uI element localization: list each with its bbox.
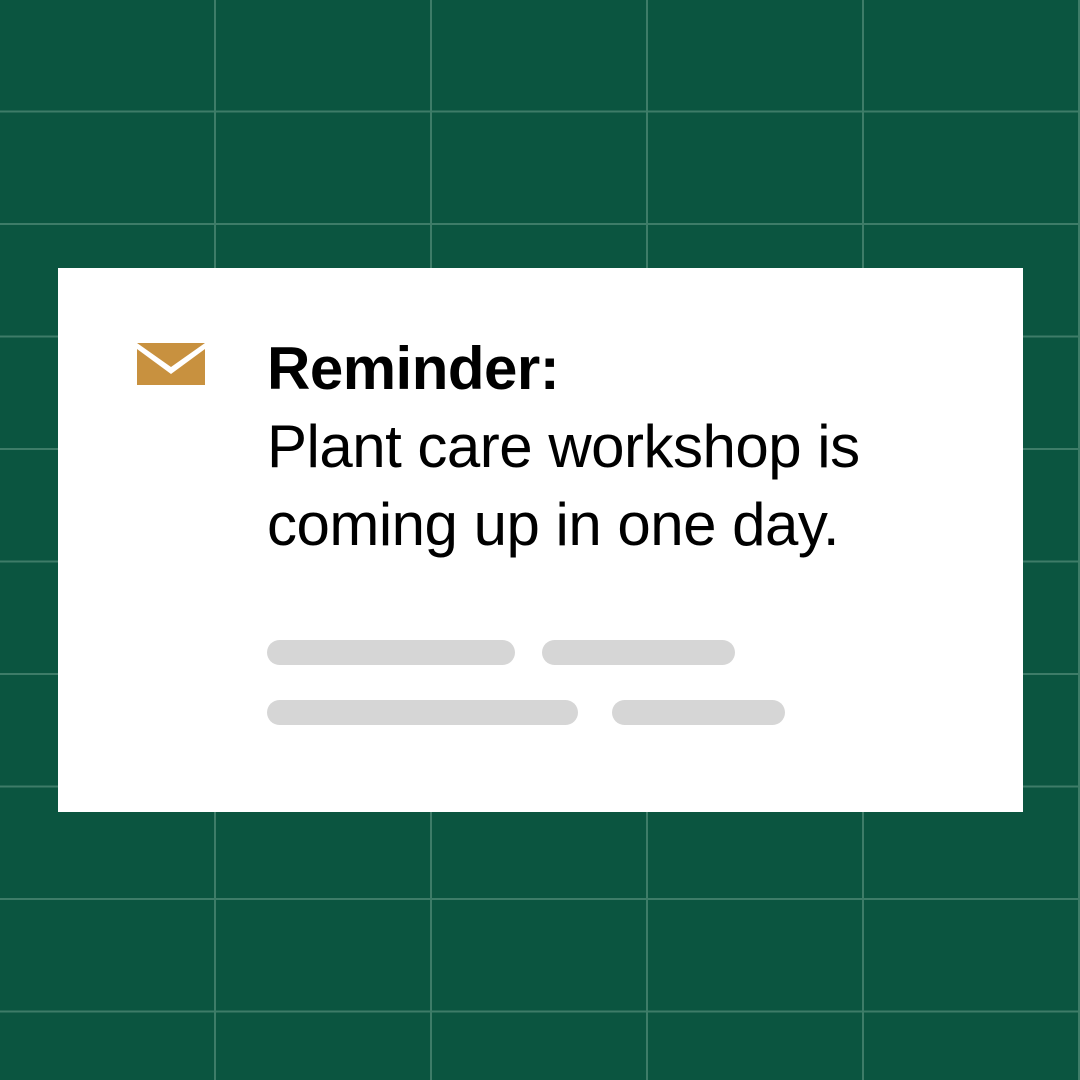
message-block: Reminder: Plant care workshop is coming … xyxy=(267,330,967,564)
placeholder-bar xyxy=(542,640,735,665)
notification-card[interactable]: Reminder: Plant care workshop is coming … xyxy=(58,268,1023,812)
placeholder-bars xyxy=(267,640,785,725)
message-line-body-2: coming up in one day. xyxy=(267,486,967,564)
placeholder-bar xyxy=(267,640,515,665)
message-line-body-1: Plant care workshop is xyxy=(267,408,967,486)
placeholder-row xyxy=(267,640,785,665)
notification-screen: Reminder: Plant care workshop is coming … xyxy=(0,0,1080,1080)
message-line-title: Reminder: xyxy=(267,330,967,408)
placeholder-bar xyxy=(612,700,785,725)
envelope-icon xyxy=(137,343,205,385)
placeholder-row xyxy=(267,700,785,725)
placeholder-bar xyxy=(267,700,578,725)
